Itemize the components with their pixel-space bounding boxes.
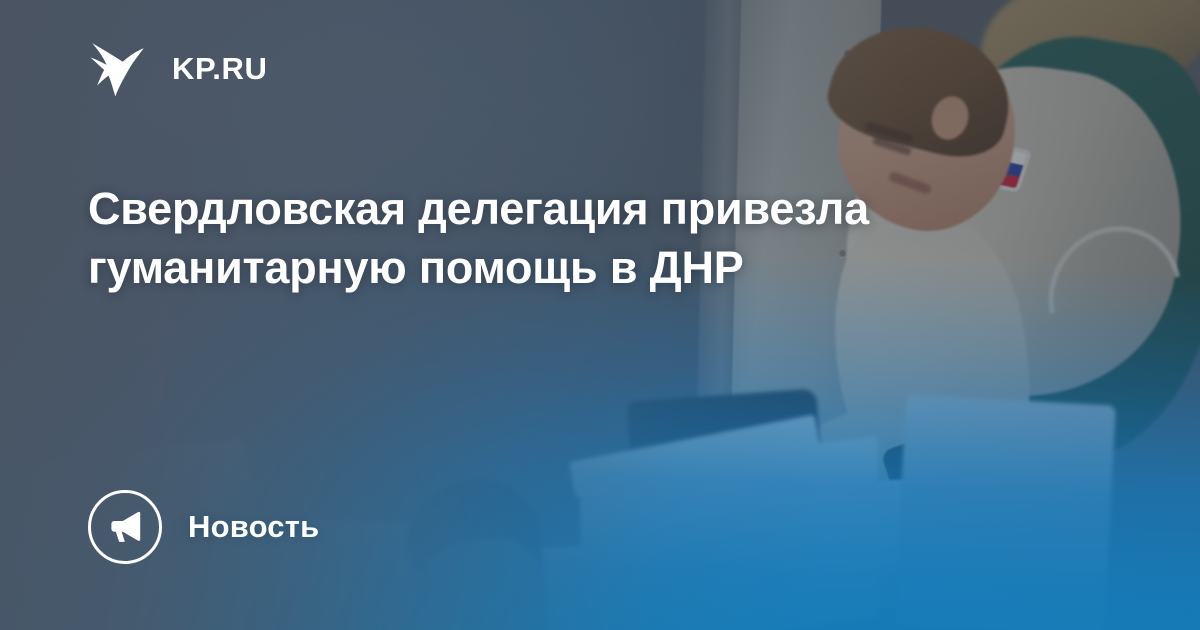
megaphone-badge: [88, 490, 162, 564]
brand-name: KP.RU: [172, 53, 267, 84]
swallow-bird-icon: [88, 37, 150, 99]
brand-lockup[interactable]: KP.RU: [88, 34, 1140, 102]
page-title: Свердловская делегация привезла гуманита…: [88, 180, 1048, 297]
card-content: KP.RU Свердловская делегация привезла гу…: [0, 0, 1200, 630]
megaphone-icon: [106, 508, 144, 546]
content-spacer: [88, 327, 1140, 490]
news-share-card: KP.RU Свердловская делегация привезла гу…: [0, 0, 1200, 630]
status-badge-label: Новость: [188, 509, 319, 545]
status-badge[interactable]: Новость: [88, 490, 1140, 564]
